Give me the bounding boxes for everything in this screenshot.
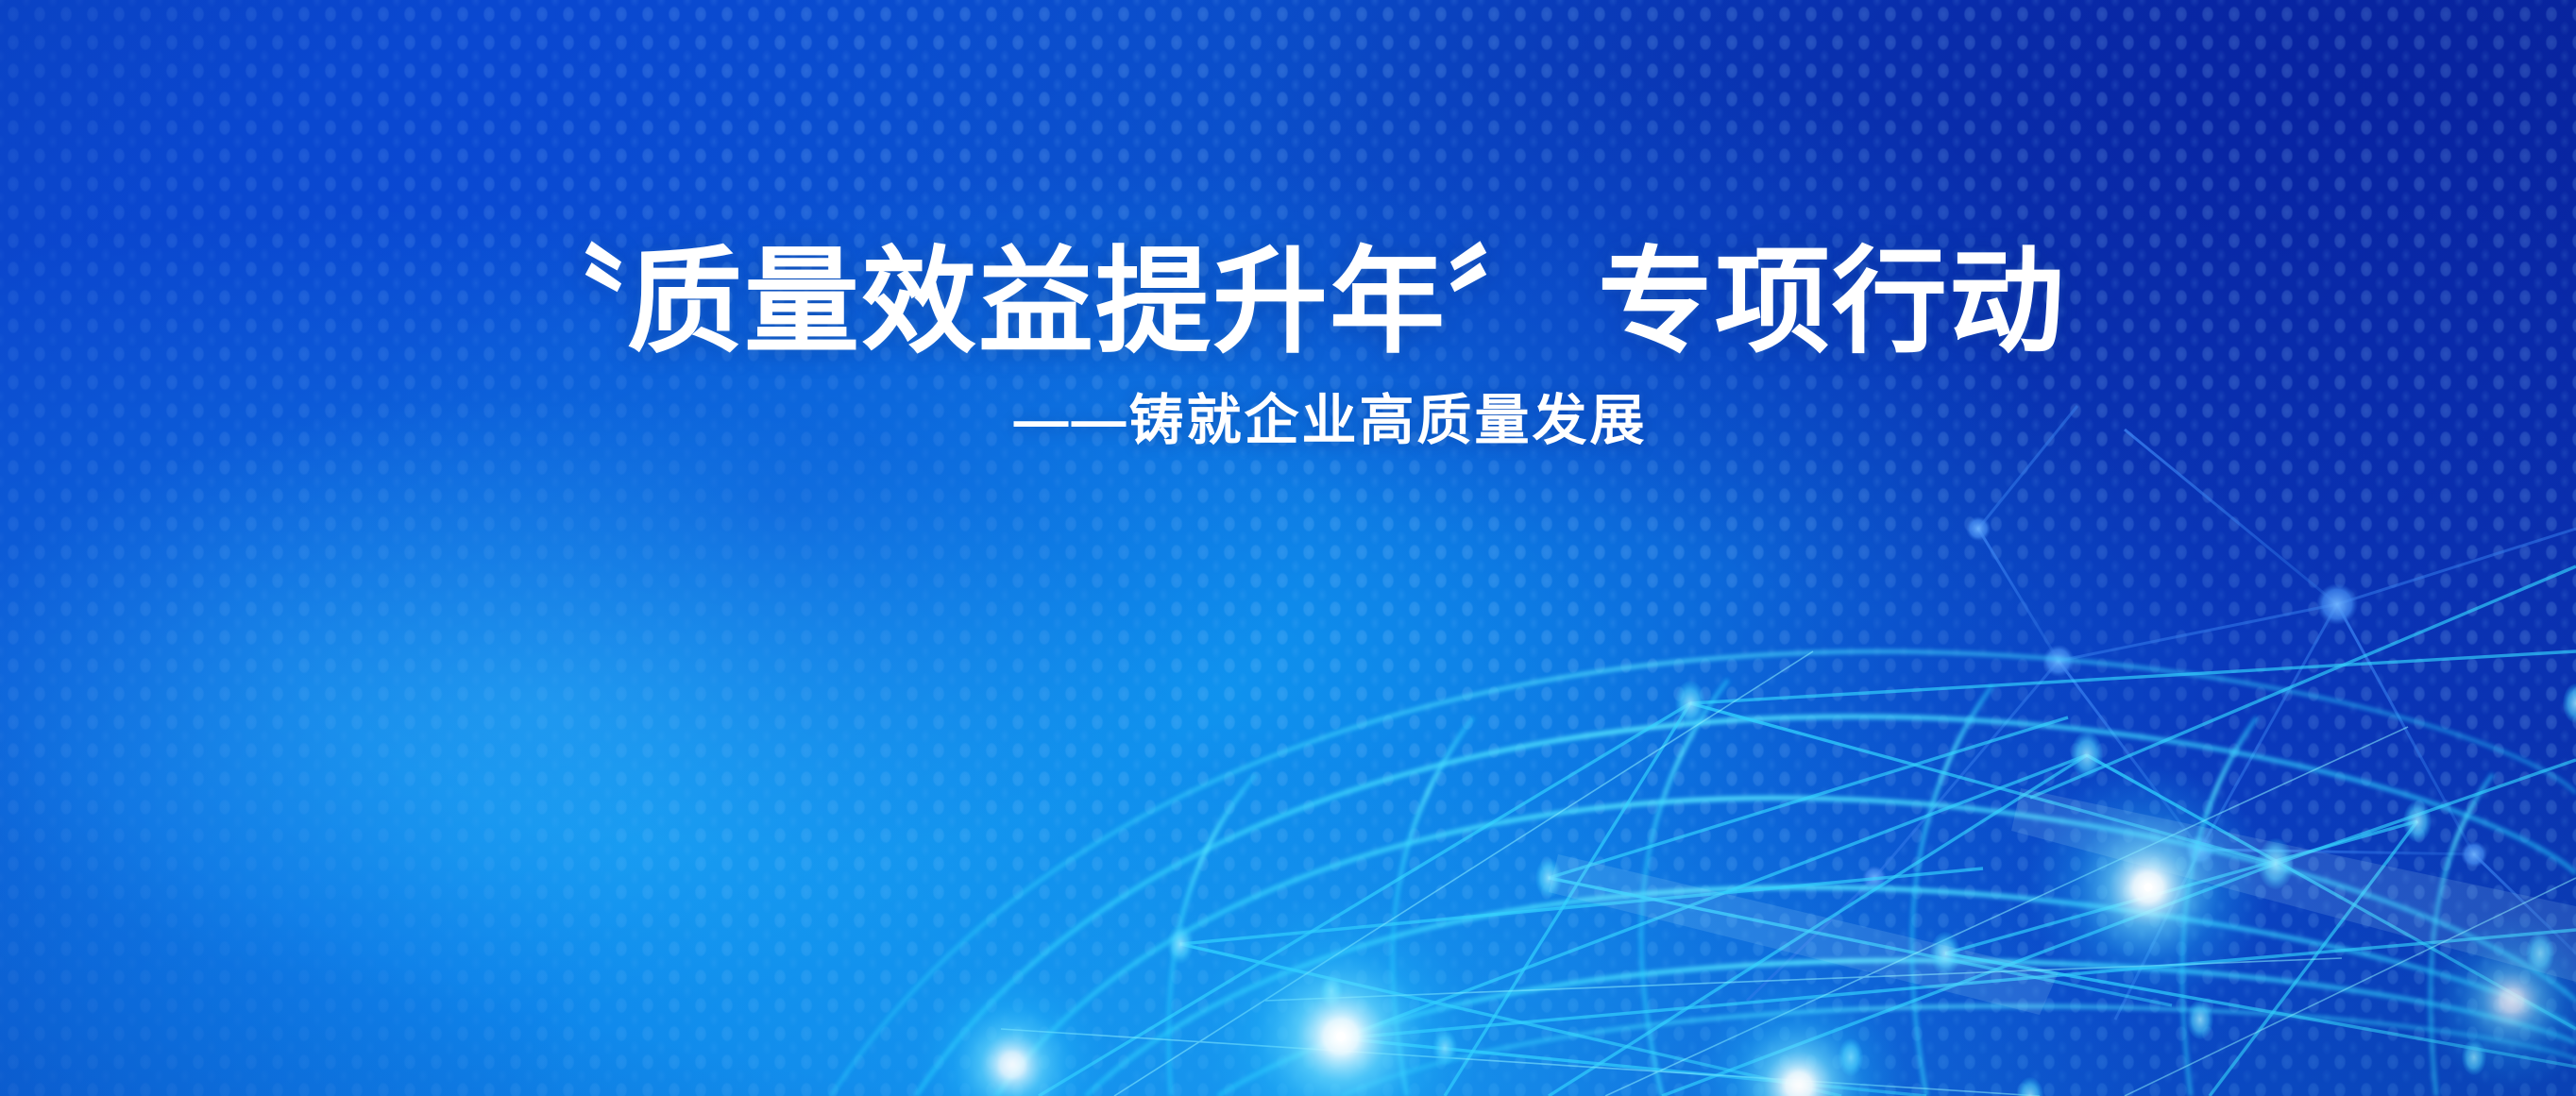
wireframe-globe-graphic	[0, 0, 2576, 1096]
banner-root: 〝质量效益提升年〞 专项行动 ——铸就企业高质量发展	[0, 0, 2576, 1096]
